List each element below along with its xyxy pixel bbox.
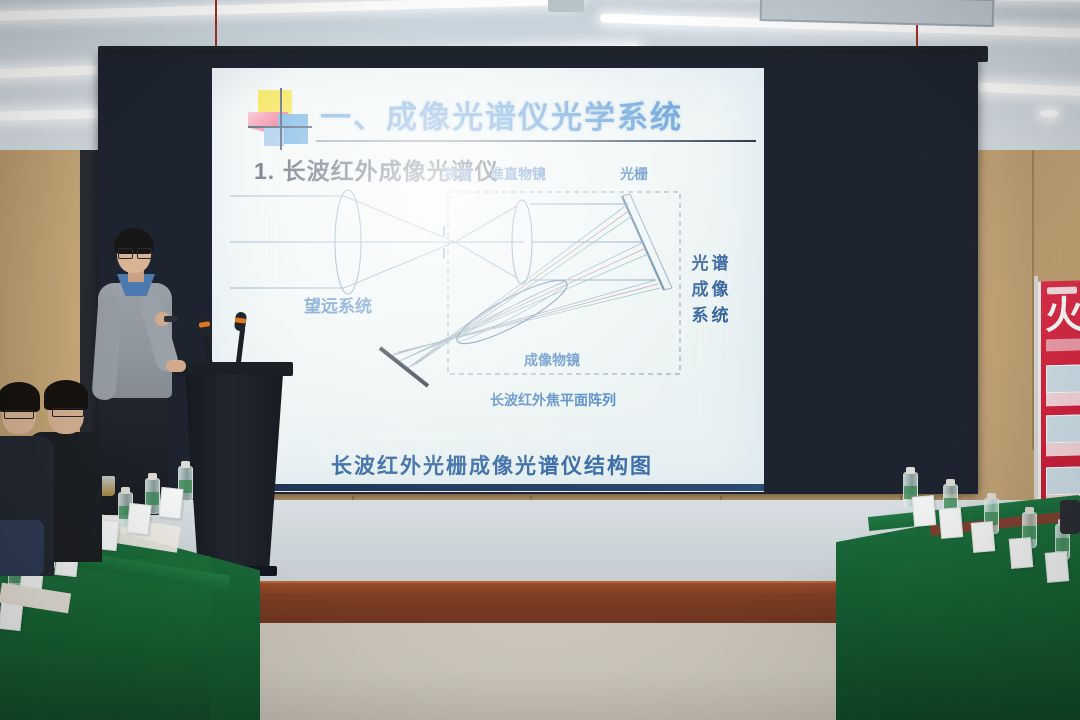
name-card xyxy=(912,495,937,527)
banner-headline: 火 xyxy=(1045,296,1080,335)
label-spectral-imaging-system-6: 统 xyxy=(710,306,730,327)
label-spectral-imaging-system-4: 像 xyxy=(710,280,730,301)
hanging-cord xyxy=(215,0,217,48)
label-spectral-imaging-system-1: 光 xyxy=(690,254,710,275)
banner-subtitle xyxy=(1046,339,1080,352)
podium xyxy=(185,374,283,568)
banner-photo-caption xyxy=(1046,393,1080,407)
slide-logo-icon xyxy=(248,88,312,150)
label-spectral-imaging-system-5: 系 xyxy=(690,306,710,327)
label-collimator: 准直物镜 xyxy=(490,164,546,184)
glasses-icon xyxy=(118,248,151,257)
imaging-objective-lens xyxy=(451,271,574,354)
name-card xyxy=(158,487,183,519)
banner-photo xyxy=(1046,364,1080,393)
name-card xyxy=(126,503,151,535)
slide-caption: 长波红外光栅成像光谱仪结构图 xyxy=(292,450,692,480)
label-telescope-system: 望远系统 xyxy=(304,292,372,317)
label-spectral-imaging-system-2: 谱 xyxy=(710,254,730,275)
downlight-icon xyxy=(1040,110,1058,117)
name-card xyxy=(971,521,996,553)
banner-photo xyxy=(1046,414,1080,443)
banner-photo xyxy=(1046,466,1080,495)
red-rollup-banner: 火 xyxy=(1038,280,1080,531)
slide-bottom-bar xyxy=(212,484,764,491)
presentation-clicker xyxy=(164,316,178,322)
attendee-right xyxy=(1060,500,1080,534)
led-strip-icon xyxy=(0,0,580,22)
title-underline xyxy=(316,140,756,142)
podium-top xyxy=(175,362,293,376)
label-spectral-imaging-system-3: 成 xyxy=(690,280,710,301)
focal-plane-array-detector xyxy=(380,348,428,386)
optical-system-diagram xyxy=(212,180,764,480)
label-grating: 光栅 xyxy=(620,164,648,184)
banner-photo-caption xyxy=(1046,443,1080,457)
label-imaging-objective: 成像物镜 xyxy=(524,350,580,370)
name-card xyxy=(1009,537,1034,569)
name-card xyxy=(1045,551,1070,583)
label-slit: 狭缝 xyxy=(444,164,472,184)
name-card xyxy=(939,507,964,539)
label-focal-plane-array: 长波红外焦平面阵列 xyxy=(490,390,616,410)
conference-photo: 一、成像光谱仪光学系统 1. 长波红外成像光谱仪 xyxy=(0,0,1080,720)
presenter-hand-left xyxy=(166,360,186,372)
attendee-lap xyxy=(0,520,44,576)
banner-logo-icon xyxy=(1047,287,1077,295)
slide-content: 一、成像光谱仪光学系统 1. 长波红外成像光谱仪 xyxy=(212,68,764,492)
slide-title: 一、成像光谱仪光学系统 xyxy=(320,92,750,137)
projection-screen: 一、成像光谱仪光学系统 1. 长波红外成像光谱仪 xyxy=(212,68,764,492)
ceiling-fixture xyxy=(548,0,584,12)
